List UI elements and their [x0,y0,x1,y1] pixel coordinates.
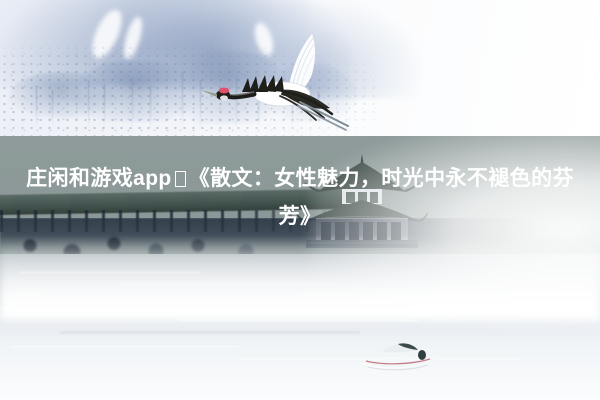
missing-glyph-box-icon [175,171,186,187]
banner-title: 庄闲和游戏app《散文：女性魅力，时光中永不褪色的芬芳》 [0,160,600,236]
ink-wash-mountain-painting [0,0,600,136]
mist-overlay-band [0,240,600,320]
article-banner: 庄闲和游戏app《散文：女性魅力，时光中永不褪色的芬芳》 [0,0,600,400]
flying-crane-icon [196,28,352,132]
small-boat-icon [352,336,448,372]
banner-title-text: 庄闲和游戏app《散文：女性魅力，时光中永不褪色的芬芳》 [10,160,590,236]
title-article-name: 《散文：女性魅力，时光中永 [189,167,467,190]
title-app-name: 庄闲和游戏app [26,167,172,190]
